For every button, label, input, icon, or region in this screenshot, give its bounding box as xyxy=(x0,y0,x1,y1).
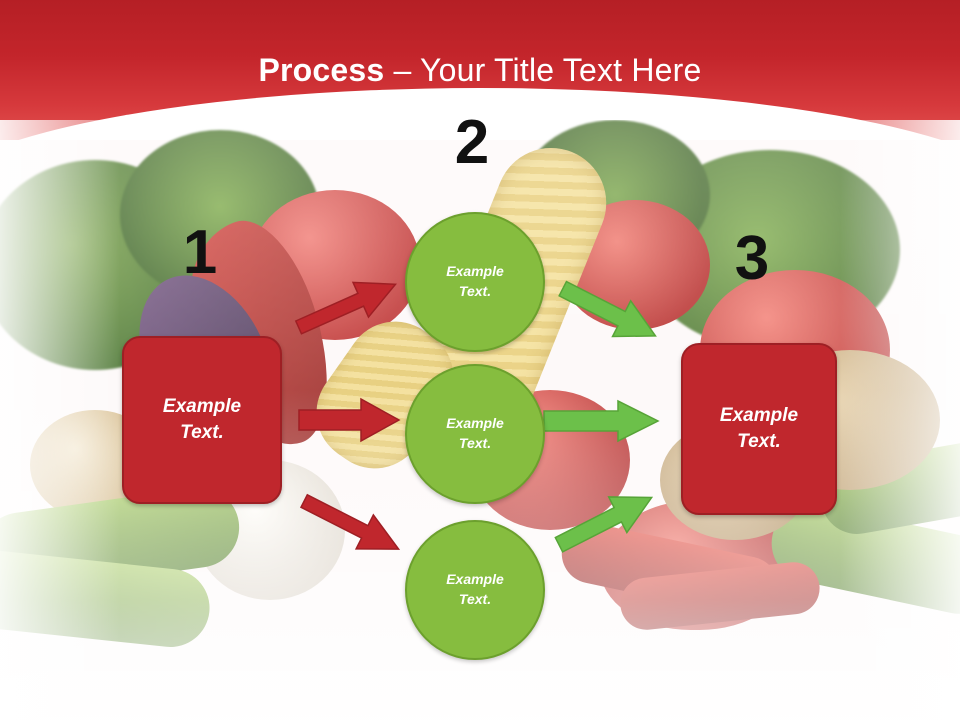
arrow-1-to-2a-icon xyxy=(290,270,410,340)
step-2-circle-3-label: Example Text. xyxy=(446,570,504,609)
step-2-circle-1-label: Example Text. xyxy=(446,262,504,301)
page-title-light: Your Title Text Here xyxy=(420,52,701,88)
step-3-label: Example Text. xyxy=(720,403,798,454)
arrow-1-to-2b-icon xyxy=(295,395,405,445)
step-2-circle-2[interactable]: Example Text. xyxy=(405,364,545,504)
step-number-1: 1 xyxy=(160,222,240,284)
step-1-label: Example Text. xyxy=(163,394,241,445)
step-2-circle-2-label-line2: Text. xyxy=(446,434,504,454)
step-2-circle-2-label: Example Text. xyxy=(446,414,504,453)
arrow-2c-to-3-icon xyxy=(548,482,668,562)
step-3-label-line1: Example xyxy=(720,403,798,429)
page-title-separator: – xyxy=(384,52,420,88)
step-number-2: 2 xyxy=(432,112,512,174)
slide: Process – Your Title Text Here xyxy=(0,0,960,720)
step-2-circle-2-label-line1: Example xyxy=(446,414,504,434)
arrow-2b-to-3-icon xyxy=(542,398,662,444)
step-number-3: 3 xyxy=(712,228,792,290)
process-diagram: 1 2 3 xyxy=(0,0,960,720)
step-2-circle-1-label-line1: Example xyxy=(446,262,504,282)
step-1-box[interactable]: Example Text. xyxy=(122,336,282,504)
step-1-label-line1: Example xyxy=(163,394,241,420)
arrow-1-to-2c-icon xyxy=(290,490,410,570)
step-1-label-line2: Text. xyxy=(163,420,241,446)
arrow-2a-to-3-icon xyxy=(550,275,670,355)
step-3-box[interactable]: Example Text. xyxy=(681,343,837,515)
page-title-bold: Process xyxy=(258,52,384,88)
step-2-circle-3[interactable]: Example Text. xyxy=(405,520,545,660)
step-2-circle-3-label-line2: Text. xyxy=(446,590,504,610)
step-2-circle-1-label-line2: Text. xyxy=(446,282,504,302)
step-2-circle-1[interactable]: Example Text. xyxy=(405,212,545,352)
page-title: Process – Your Title Text Here xyxy=(0,52,960,89)
step-3-label-line2: Text. xyxy=(720,429,798,455)
step-2-circle-3-label-line1: Example xyxy=(446,570,504,590)
